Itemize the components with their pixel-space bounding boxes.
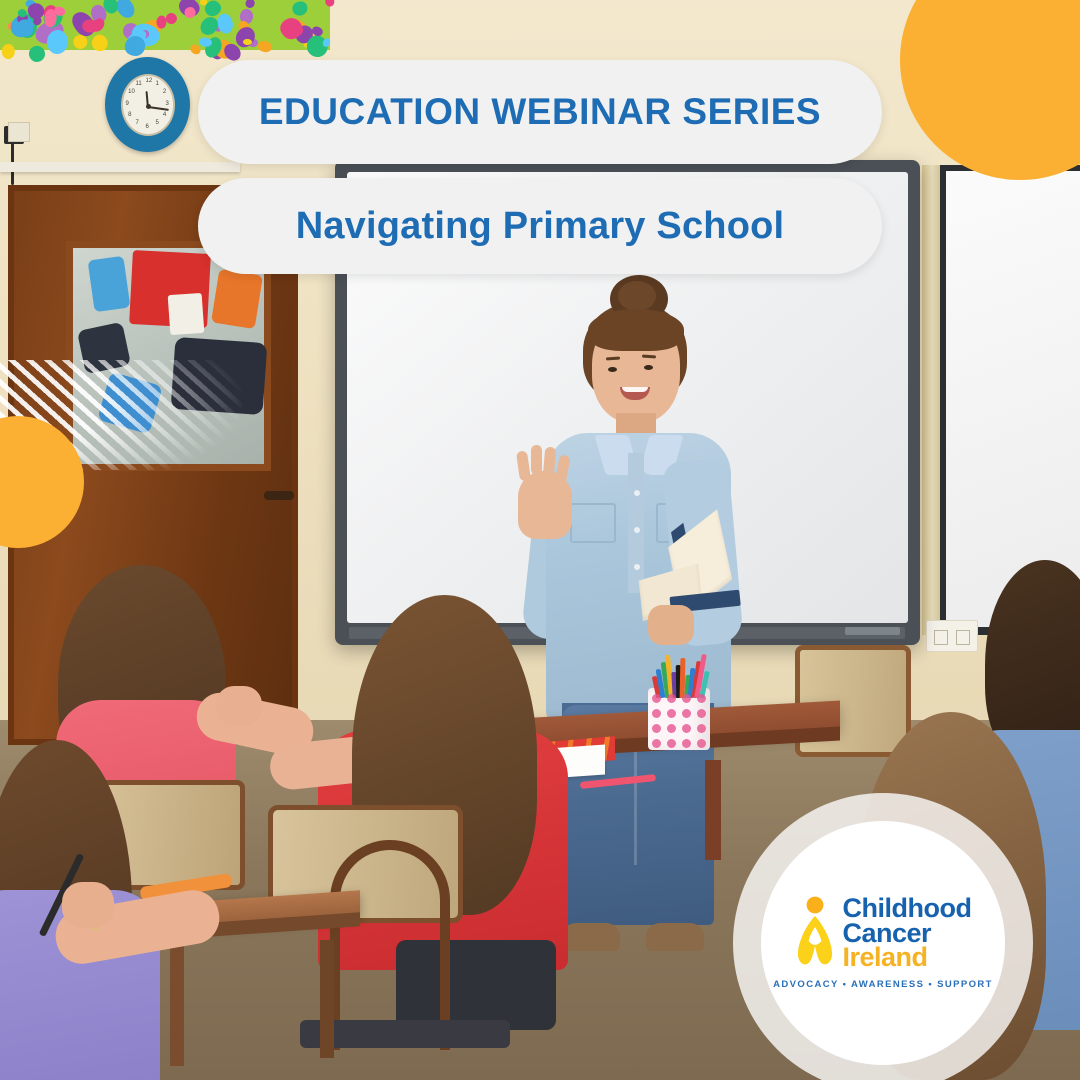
logo-wordmark: Childhood Cancer Ireland <box>843 896 972 970</box>
flower-shape <box>291 1 308 17</box>
clock-numeral: 10 <box>128 89 135 95</box>
clock-numeral: 7 <box>136 120 139 126</box>
cup-pattern-dot <box>667 709 676 718</box>
ribbon-person-icon <box>795 896 835 970</box>
cup-pattern-dot <box>667 724 676 733</box>
wall-rail <box>0 162 240 172</box>
teacher-shoe-left <box>562 923 620 951</box>
finger <box>516 450 531 481</box>
title-banner: Navigating Primary School <box>198 178 882 274</box>
teacher-eye-right <box>644 365 653 370</box>
cup-pattern-dot <box>652 694 661 703</box>
flower-shape <box>82 19 99 32</box>
cup-pattern-dot <box>697 724 706 733</box>
teacher-shirt-pocket-left <box>570 503 616 543</box>
logo-tagline: ADVOCACY • AWARENESS • SUPPORT <box>773 979 993 990</box>
clock-numeral: 1 <box>156 81 159 87</box>
cup-pattern-dot <box>652 724 661 733</box>
clock-numeral: 6 <box>146 124 149 130</box>
cup-pattern-dot <box>697 709 706 718</box>
teacher-shoe-right <box>646 923 704 951</box>
logo-line-ireland: Ireland <box>843 945 972 970</box>
cup-pattern-dot <box>697 739 706 748</box>
cup-pattern-dot <box>652 739 661 748</box>
series-banner-text: EDUCATION WEBINAR SERIES <box>259 91 821 133</box>
right-wall-socket <box>926 620 978 652</box>
cup-pattern-dot <box>682 724 691 733</box>
clock-face: 123456789101112 <box>121 74 175 136</box>
poster-canvas: 123456789101112 <box>0 0 1080 1080</box>
title-banner-text: Navigating Primary School <box>296 205 785 248</box>
logo-lockup: Childhood Cancer Ireland <box>795 896 972 970</box>
cup-pattern-dot <box>682 709 691 718</box>
shirt-button <box>634 490 640 496</box>
flower-board <box>0 0 330 50</box>
desk-leg <box>320 940 334 1058</box>
teacher-hand-holding-book <box>648 605 694 645</box>
clock-center-pin <box>146 104 151 109</box>
clock-numeral: 4 <box>163 112 166 118</box>
student-purple-hand <box>62 882 114 928</box>
door-handle <box>264 491 294 500</box>
wall-socket <box>8 122 30 142</box>
clock-numeral: 2 <box>163 89 166 95</box>
logo-circle: Childhood Cancer Ireland ADVOCACY • AWAR… <box>761 821 1005 1065</box>
paper-cutout <box>88 256 131 313</box>
teacher-hair-fringe <box>588 309 684 351</box>
logo-line-childhood: Childhood <box>843 896 972 921</box>
clock-numeral: 3 <box>166 101 169 107</box>
series-banner: EDUCATION WEBINAR SERIES <box>198 60 882 164</box>
teacher-eye-left <box>608 367 617 372</box>
paper-cutout <box>211 269 263 329</box>
wall-clock: 123456789101112 <box>105 57 190 152</box>
cup-pattern-dot <box>697 694 706 703</box>
pencil-cup <box>648 688 710 750</box>
desk-leg <box>170 936 184 1066</box>
paper-cutout <box>168 293 205 335</box>
cup-pattern-dot <box>652 709 661 718</box>
clock-numeral: 8 <box>128 112 131 118</box>
clock-numeral: 5 <box>156 120 159 126</box>
student-pink-hand <box>216 686 262 726</box>
logo-badge: Childhood Cancer Ireland ADVOCACY • AWAR… <box>733 793 1033 1080</box>
flower-shape <box>245 0 255 9</box>
cup-pattern-dot <box>682 694 691 703</box>
whiteboard-tray-clip <box>845 627 900 635</box>
cup-pattern-dot <box>682 739 691 748</box>
cup-pattern-dot <box>667 739 676 748</box>
clock-numeral: 9 <box>126 101 129 107</box>
chair-frame <box>330 840 450 1050</box>
finger <box>531 445 542 475</box>
clock-numeral: 12 <box>146 78 153 84</box>
flower-shape <box>2 44 15 59</box>
wall-strip <box>922 165 942 635</box>
secondary-whiteboard-face <box>946 171 1080 627</box>
shirt-button <box>634 527 640 533</box>
cup-pattern-dot <box>667 694 676 703</box>
desk-leg <box>705 760 721 860</box>
clock-numeral: 11 <box>136 81 142 87</box>
